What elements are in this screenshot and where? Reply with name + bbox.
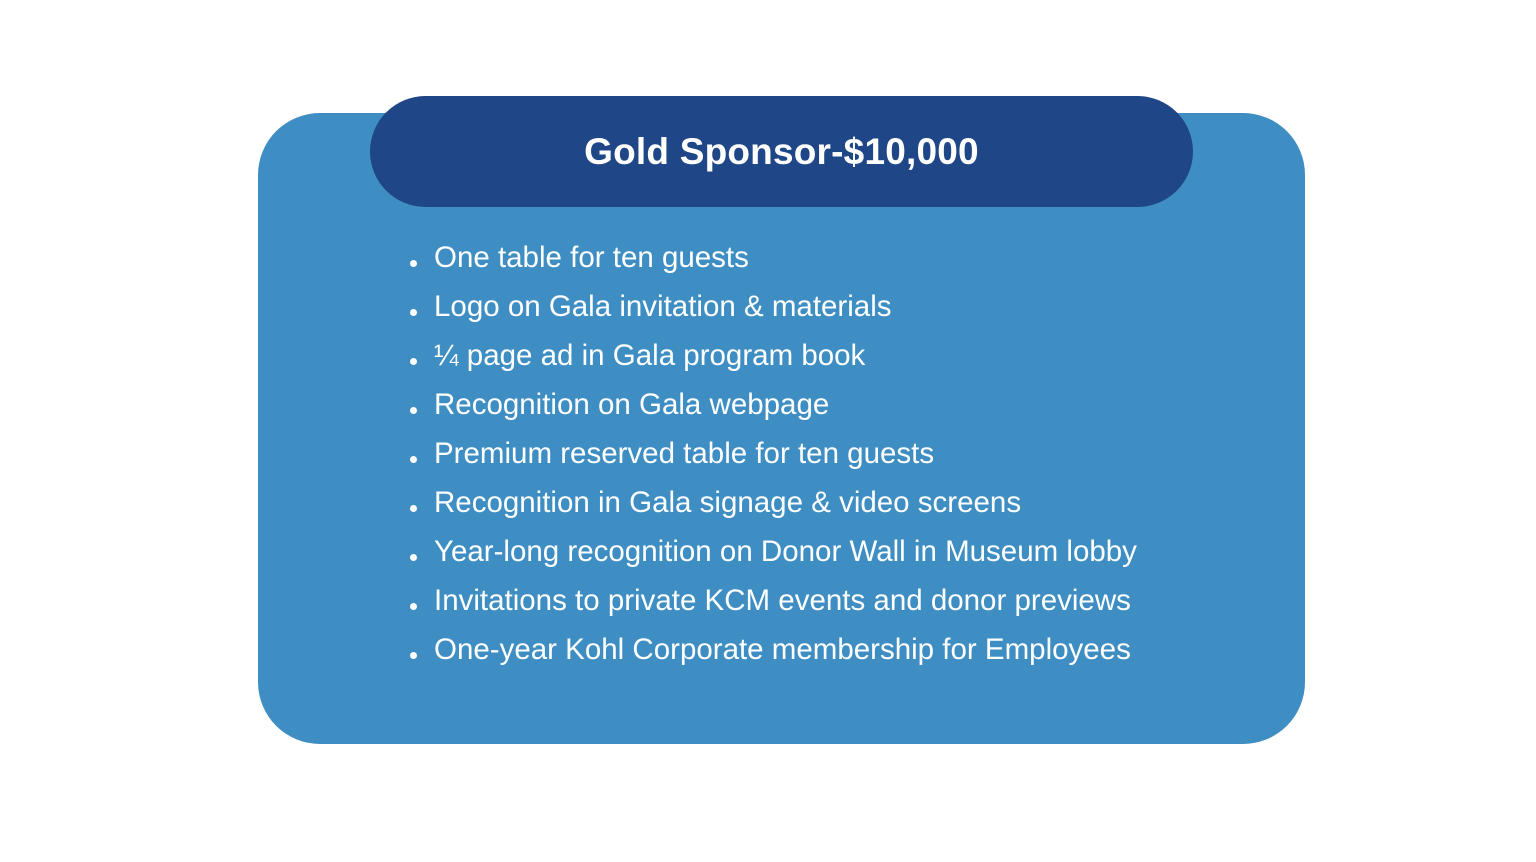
benefit-label: One table for ten guests	[434, 233, 749, 282]
benefit-label: Logo on Gala invitation & materials	[434, 282, 892, 331]
benefit-label: One-year Kohl Corporate membership for E…	[434, 625, 1131, 674]
benefit-label: Recognition on Gala webpage	[434, 380, 829, 429]
benefit-label: Year-long recognition on Donor Wall in M…	[434, 527, 1137, 576]
benefit-list-item: Logo on Gala invitation & materials	[405, 282, 1137, 331]
benefit-list-item: ¼ page ad in Gala program book	[405, 331, 1137, 380]
sponsor-tier-header: Gold Sponsor-$10,000	[370, 96, 1193, 207]
benefit-label: Recognition in Gala signage & video scre…	[434, 478, 1021, 527]
benefit-list-item: Recognition in Gala signage & video scre…	[405, 478, 1137, 527]
benefit-list-item: Invitations to private KCM events and do…	[405, 576, 1137, 625]
benefit-list-item: Year-long recognition on Donor Wall in M…	[405, 527, 1137, 576]
benefits-list: One table for ten guestsLogo on Gala inv…	[405, 233, 1137, 674]
benefit-list-item: One table for ten guests	[405, 233, 1137, 282]
benefit-label: Premium reserved table for ten guests	[434, 429, 934, 478]
benefit-list-item: Recognition on Gala webpage	[405, 380, 1137, 429]
benefit-label: Invitations to private KCM events and do…	[434, 576, 1131, 625]
benefit-label: ¼ page ad in Gala program book	[434, 331, 865, 380]
benefit-list-item: Premium reserved table for ten guests	[405, 429, 1137, 478]
benefit-list-item: One-year Kohl Corporate membership for E…	[405, 625, 1137, 674]
sponsor-tier-title: Gold Sponsor-$10,000	[584, 133, 979, 170]
